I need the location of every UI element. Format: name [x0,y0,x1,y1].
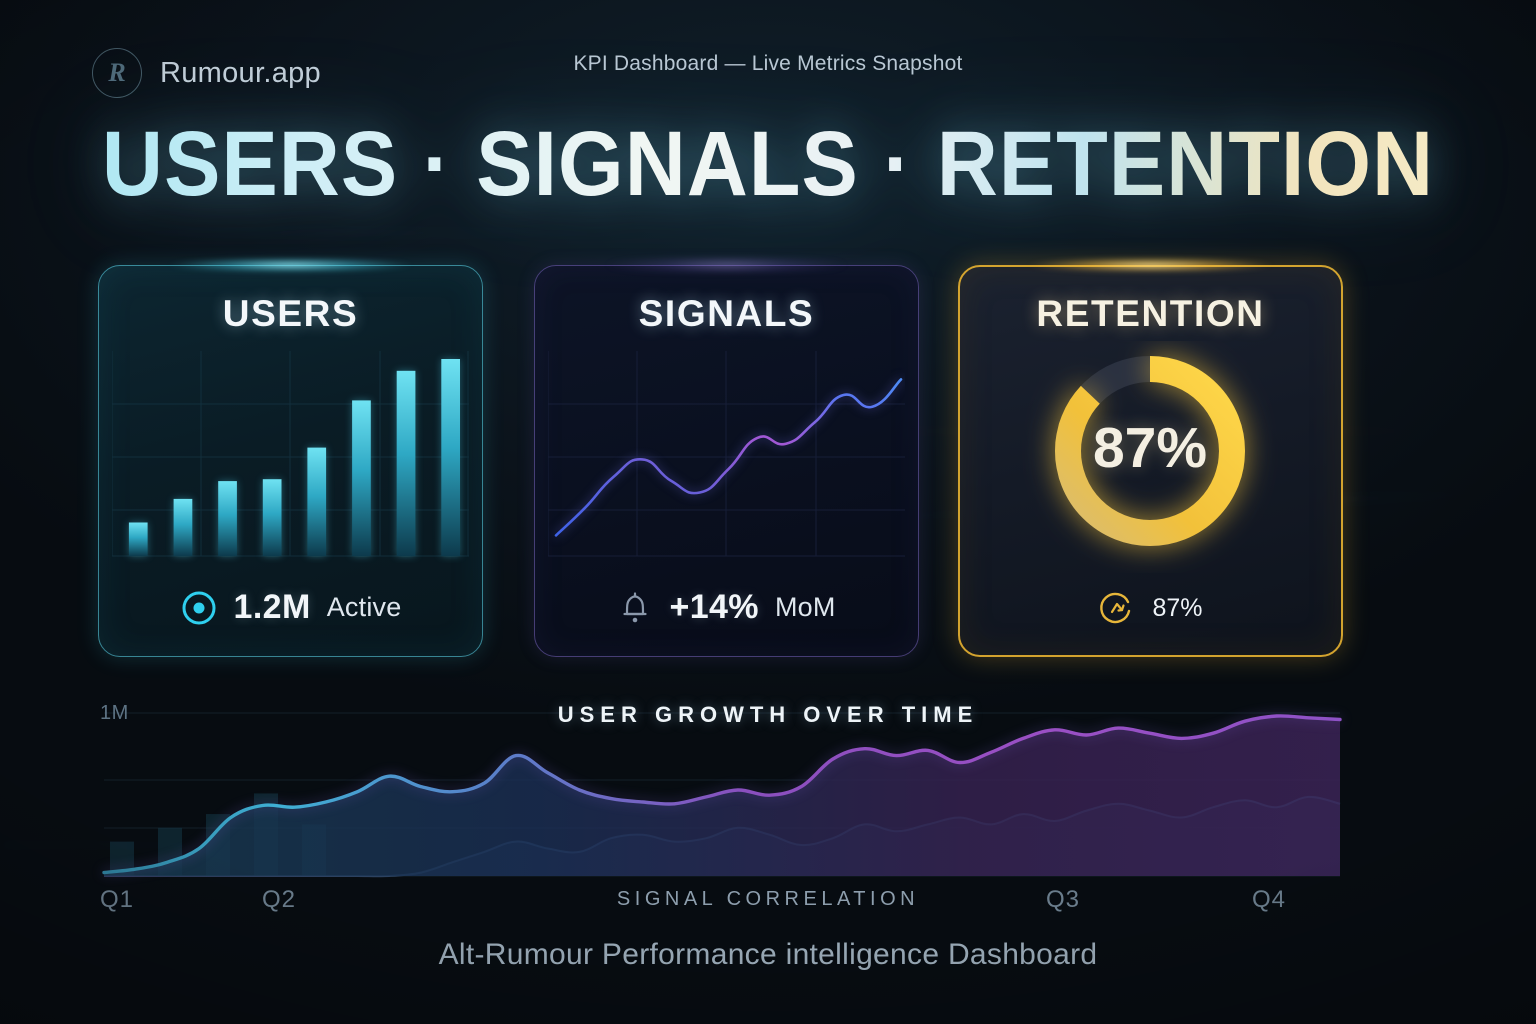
users-bar [441,359,460,556]
retention-donut-chart: 87% [958,341,1343,573]
bottom-chart-title: USER GROWTH OVER TIME [0,702,1536,728]
retention-value: 87% [1152,594,1202,623]
users-bar-svg [112,351,469,563]
kpi-card-retention[interactable]: RETENTION 87% 87% [958,265,1343,657]
dashboard-subtitle: KPI Dashboard — Live Metrics Snapshot [0,52,1536,76]
users-bar [307,448,326,556]
card-footer-signals: +14% MoM [534,587,919,627]
users-bar [218,481,237,556]
svg-text:87%: 87% [1093,416,1207,480]
users-bar [174,499,193,556]
bell-icon [617,587,653,627]
card-footer-retention: 87% [958,589,1343,627]
users-bar-chart [112,351,469,563]
users-value-suffix: Active [327,592,402,623]
signals-value: +14% [669,588,759,627]
card-title-retention: RETENTION [958,293,1343,335]
y-axis-label: 1M [100,702,129,725]
footer-caption: Alt-Rumour Performance intelligence Dash… [0,938,1536,972]
refresh-arrow-icon [1098,589,1136,627]
users-value: 1.2M [234,588,311,627]
users-bar [397,371,416,556]
card-title-signals: SIGNALS [534,293,919,335]
users-bar [129,523,148,557]
signals-line-svg [548,351,905,563]
users-bar [352,400,371,556]
target-dot-icon [180,589,218,627]
signals-value-suffix: MoM [775,592,836,623]
kpi-card-signals[interactable]: SIGNALS [534,265,919,657]
users-bar [263,479,282,556]
signal-correlation-label: SIGNAL CORRELATION [0,888,1536,911]
signals-line-chart [548,351,905,563]
kpi-card-users[interactable]: USERS [98,265,483,657]
page-title: USERS · SIGNALS · RETENTION [61,112,1474,217]
retention-donut-svg: 87% [958,341,1343,573]
user-growth-section: USER GROWTH OVER TIME 1M [0,680,1536,920]
card-footer-users: 1.2M Active [98,588,483,627]
card-title-users: USERS [98,293,483,335]
